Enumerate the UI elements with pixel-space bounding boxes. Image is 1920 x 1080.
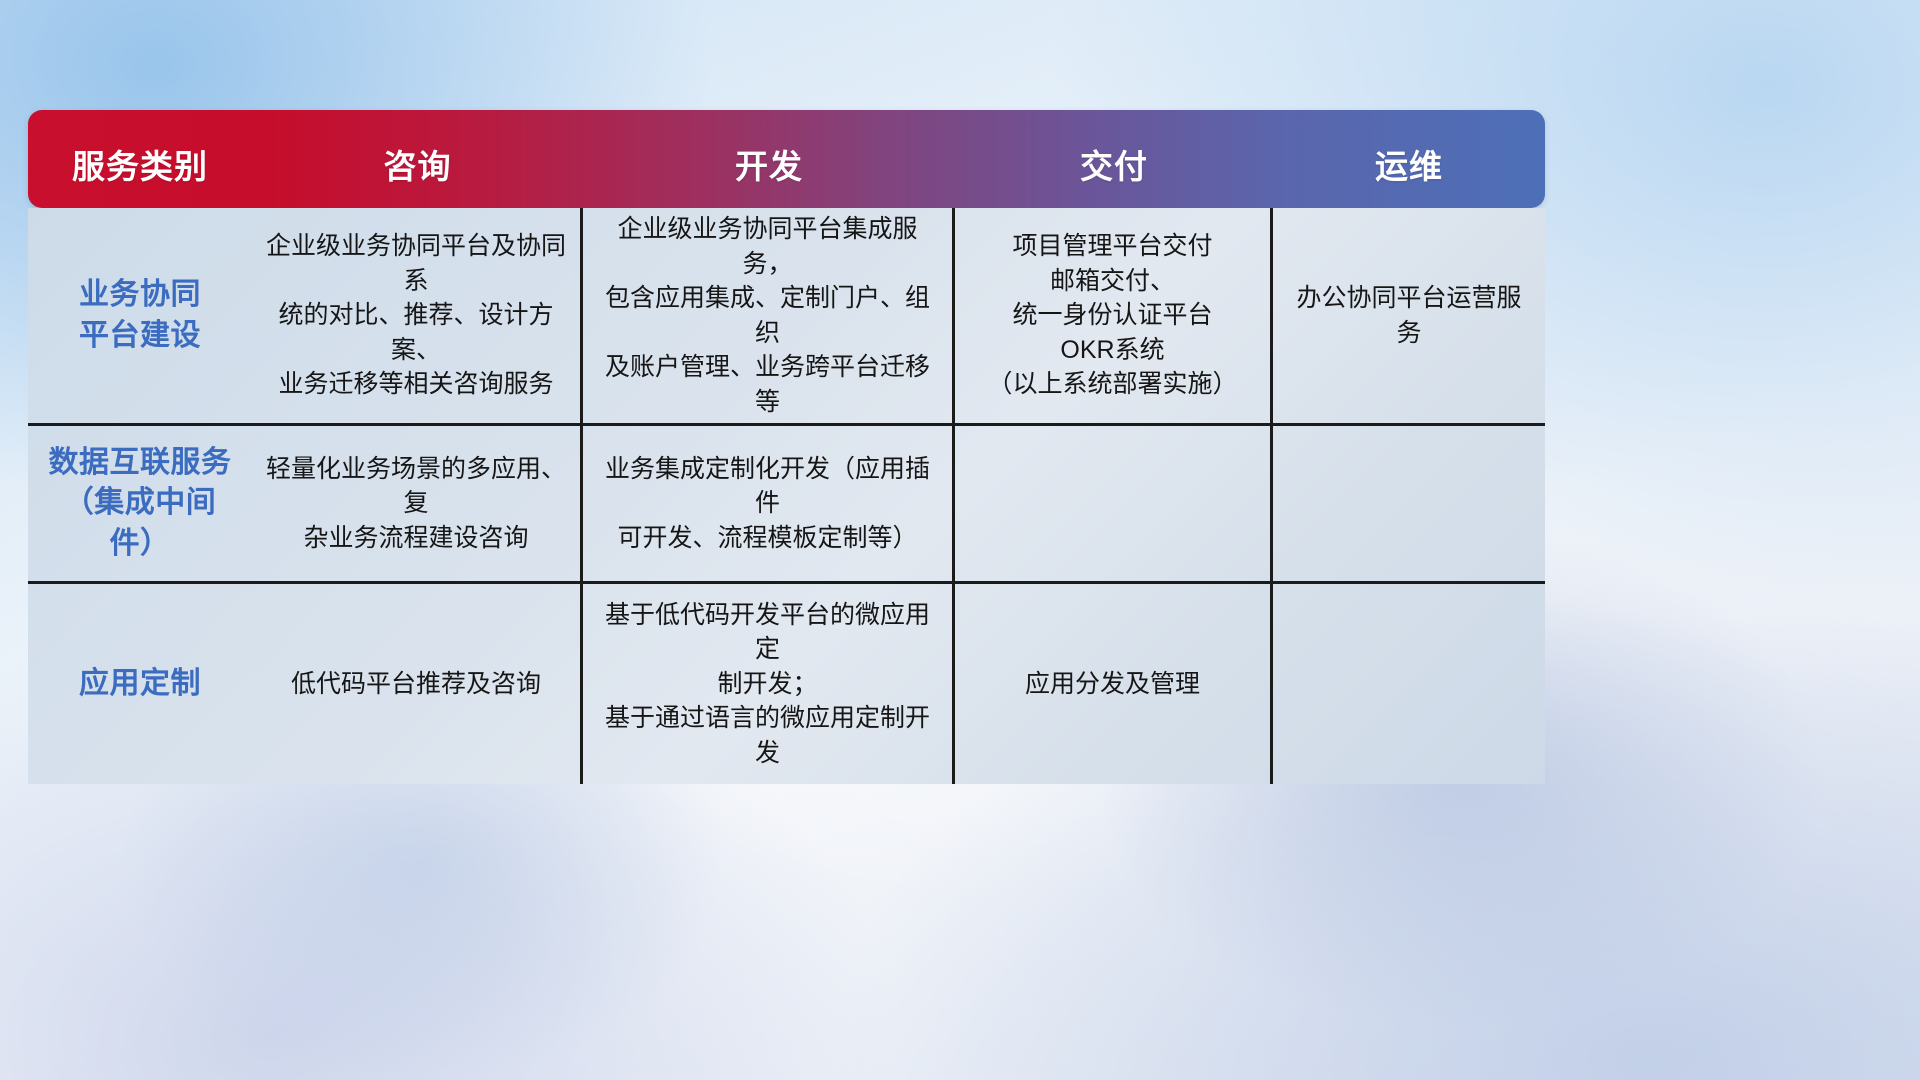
cell-development: 基于低代码开发平台的微应用定 制开发； 基于通过语言的微应用定制开发	[583, 584, 955, 784]
cell-consulting: 低代码平台推荐及咨询	[252, 584, 583, 784]
cell-delivery: 项目管理平台交付 邮箱交付、 统一身份认证平台 OKR系统 （以上系统部署实施）	[955, 208, 1273, 423]
table-header-row: 服务类别 咨询 开发 交付 运维	[28, 110, 1545, 208]
row-category-label: 数据互联服务 （集成中间件）	[28, 426, 252, 581]
cell-consulting: 企业级业务协同平台及协同系 统的对比、推荐、设计方案、 业务迁移等相关咨询服务	[252, 208, 583, 423]
column-header-consulting: 咨询	[252, 110, 583, 208]
cell-delivery: 应用分发及管理	[955, 584, 1273, 784]
table-row: 业务协同 平台建设 企业级业务协同平台及协同系 统的对比、推荐、设计方案、 业务…	[28, 208, 1545, 423]
cell-operations	[1273, 584, 1545, 784]
column-header-development: 开发	[583, 110, 955, 208]
cell-operations: 办公协同平台运营服务	[1273, 208, 1545, 423]
row-category-label: 业务协同 平台建设	[28, 208, 252, 423]
cell-development: 企业级业务协同平台集成服务， 包含应用集成、定制门户、组织 及账户管理、业务跨平…	[583, 208, 955, 423]
cell-consulting: 轻量化业务场景的多应用、复 杂业务流程建设咨询	[252, 426, 583, 581]
table-row: 应用定制 低代码平台推荐及咨询 基于低代码开发平台的微应用定 制开发； 基于通过…	[28, 581, 1545, 784]
cell-development: 业务集成定制化开发（应用插件 可开发、流程模板定制等）	[583, 426, 955, 581]
table-row: 数据互联服务 （集成中间件） 轻量化业务场景的多应用、复 杂业务流程建设咨询 业…	[28, 423, 1545, 581]
table-body: 业务协同 平台建设 企业级业务协同平台及协同系 统的对比、推荐、设计方案、 业务…	[28, 208, 1545, 784]
column-header-operations: 运维	[1273, 110, 1545, 208]
row-category-label: 应用定制	[28, 584, 252, 784]
cell-operations	[1273, 426, 1545, 581]
cell-delivery	[955, 426, 1273, 581]
service-matrix-table: 服务类别 咨询 开发 交付 运维 业务协同 平台建设 企业级业务协同平台及协同系…	[28, 110, 1545, 784]
column-header-category: 服务类别	[28, 110, 252, 208]
column-header-delivery: 交付	[955, 110, 1273, 208]
